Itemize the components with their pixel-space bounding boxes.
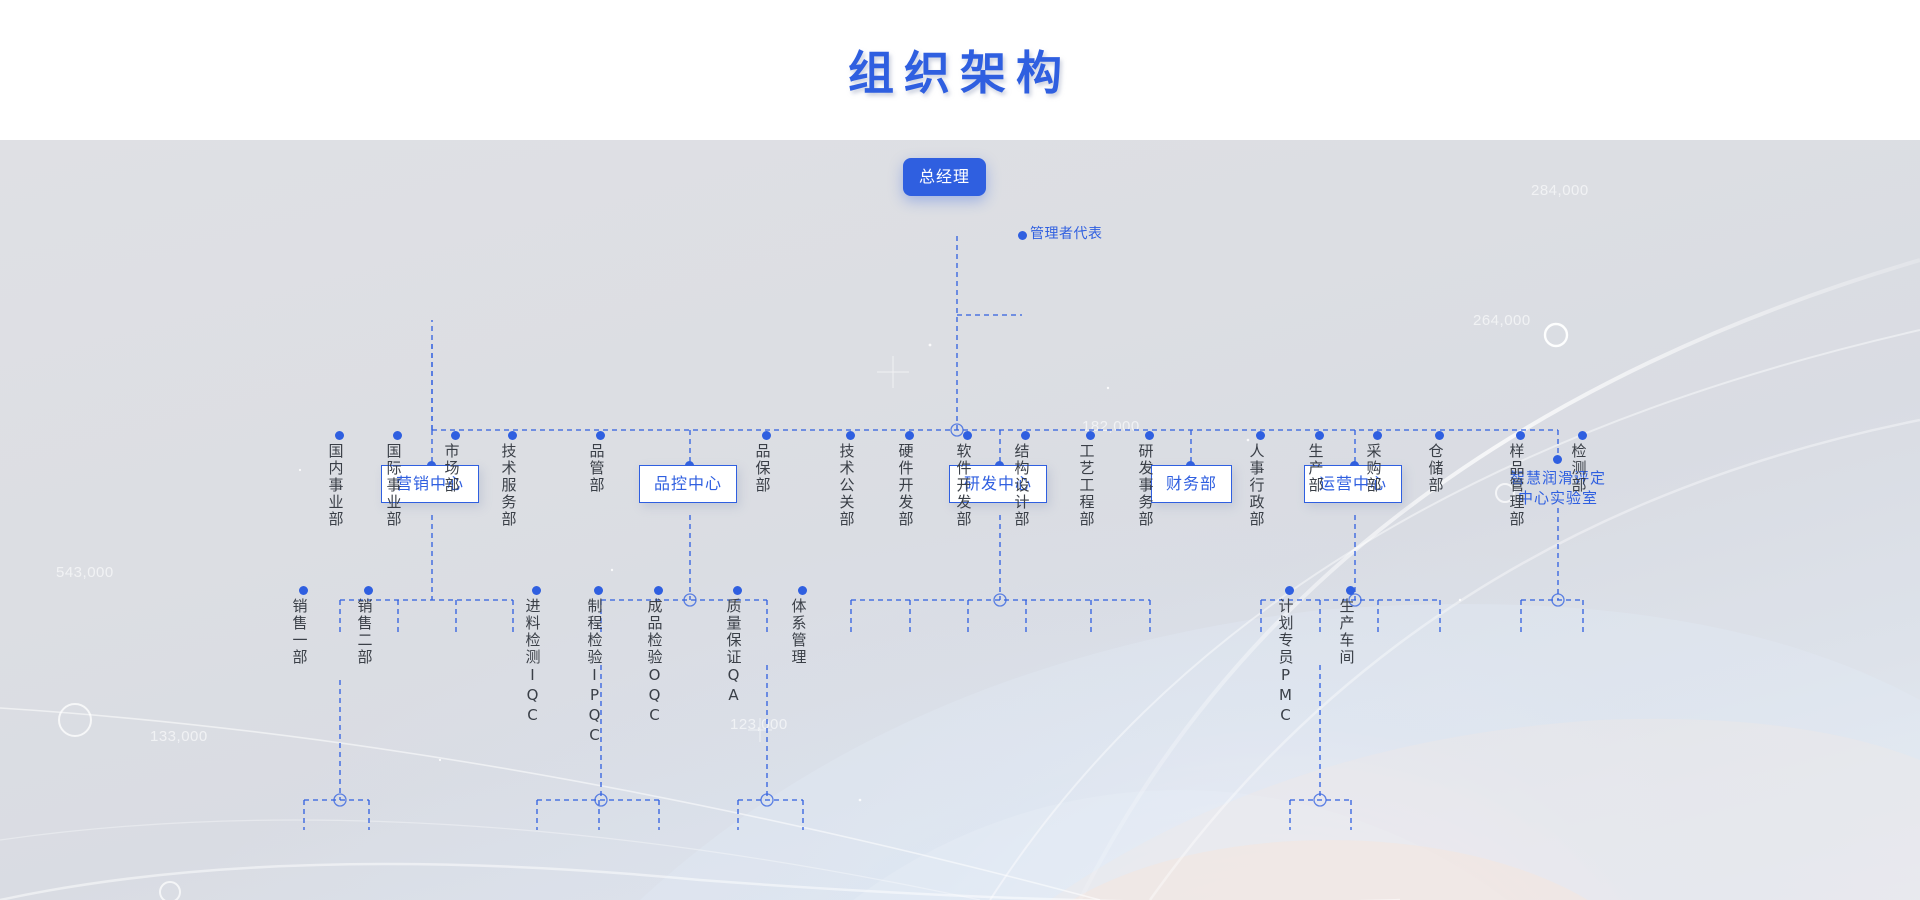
node-warehouse-department[interactable]: 仓储部 [1420,443,1450,494]
node-international-business-unit[interactable]: 国际事业部 [378,443,408,528]
node-sales-division-1[interactable]: 销售一部 [284,598,314,666]
node-dot [532,586,541,595]
watermark-number: 543,000 [56,564,114,581]
staff-connector-dot [1018,231,1027,240]
node-dot [1256,431,1265,440]
node-dot [1285,586,1294,595]
org-chart-page: 组织架构 [0,0,1920,900]
watermark-number: 284,000 [1531,182,1589,199]
node-dot [1021,431,1030,440]
node-hr-admin-department[interactable]: 人事行政部 [1241,443,1271,528]
node-in-process-inspection-ipqc[interactable]: 制程检验IPQC [579,598,609,746]
node-outgoing-inspection-oqc[interactable]: 成品检验OQC [639,598,669,726]
node-dot [1435,431,1444,440]
node-dot [798,586,807,595]
node-dot [335,431,344,440]
node-sales-division-2[interactable]: 销售二部 [349,598,379,666]
node-dot [654,586,663,595]
node-dot [364,586,373,595]
node-dot [1373,431,1382,440]
node-dot [1145,431,1154,440]
node-domestic-business-unit[interactable]: 国内事业部 [320,443,350,528]
node-dot [1315,431,1324,440]
node-dot [846,431,855,440]
node-dot [905,431,914,440]
node-dot [1346,586,1355,595]
node-dot [451,431,460,440]
node-finance-department[interactable]: 财务部 [1151,465,1232,503]
node-dot [1516,431,1525,440]
node-quality-assurance-department[interactable]: 品保部 [747,443,777,494]
node-root-general-manager[interactable]: 总经理 [903,158,986,196]
node-technical-service-department[interactable]: 技术服务部 [493,443,523,528]
node-purchasing-department[interactable]: 采购部 [1358,443,1388,494]
node-incoming-inspection-iqc[interactable]: 进料检测IQC [517,598,547,726]
node-planning-specialist-pmc[interactable]: 计划专员PMC [1270,598,1300,726]
node-dot [393,431,402,440]
node-production-workshop[interactable]: 生产车间 [1331,598,1361,666]
node-dot [299,586,308,595]
node-testing-department[interactable]: 检测部 [1563,443,1593,494]
node-marketing-department[interactable]: 市场部 [436,443,466,494]
node-management-representative[interactable]: 管理者代表 [1030,227,1103,241]
node-dot [1578,431,1587,440]
node-process-engineering-department[interactable]: 工艺工程部 [1071,443,1101,528]
node-software-development-department[interactable]: 软件开发部 [948,443,978,528]
page-title: 组织架构 [848,37,1072,103]
node-quality-control-center[interactable]: 品控中心 [639,465,737,503]
node-dot [1086,431,1095,440]
watermark-number: 133,000 [150,728,208,745]
node-quality-assurance-qa[interactable]: 质量保证QA [718,598,748,706]
page-header: 组织架构 [0,0,1920,140]
node-dot [1553,455,1562,464]
node-quality-management-department[interactable]: 品管部 [581,443,611,494]
node-hardware-development-department[interactable]: 硬件开发部 [890,443,920,528]
node-dot [762,431,771,440]
watermark-number: 264,000 [1473,312,1531,329]
chart-stage: 284,000 264,000 182,000 543,000 133,000 … [0,140,1920,900]
node-system-management[interactable]: 体系管理 [783,598,813,666]
node-dot [596,431,605,440]
watermark-number: 123,000 [730,716,788,733]
node-dot [733,586,742,595]
node-structural-design-department[interactable]: 结构设计部 [1006,443,1036,528]
node-rnd-affairs-department[interactable]: 研发事务部 [1130,443,1160,528]
node-production-department[interactable]: 生产部 [1300,443,1330,494]
node-dot [508,431,517,440]
node-technical-pr-department[interactable]: 技术公关部 [831,443,861,528]
node-dot [594,586,603,595]
node-sample-management-department[interactable]: 样品管理部 [1501,443,1531,528]
node-dot [963,431,972,440]
